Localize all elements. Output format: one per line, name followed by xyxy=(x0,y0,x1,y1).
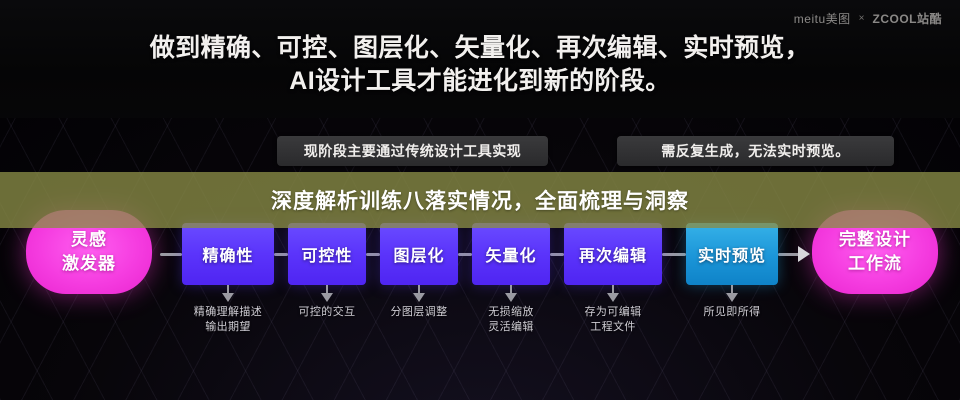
flow-node-start-line1: 灵感 xyxy=(71,228,107,252)
connector-6-to-end xyxy=(778,253,800,256)
flow-step-2: 可控性 xyxy=(288,223,366,285)
flow-sub-4-line2: 灵活编辑 xyxy=(461,320,561,335)
flow-sub-2-line1: 可控的交互 xyxy=(277,305,377,320)
flow-step-6-label: 实时预览 xyxy=(698,242,766,266)
flow-sub-4: 无损缩放 灵活编辑 xyxy=(461,305,561,335)
flow-step-5-label: 再次编辑 xyxy=(579,242,647,266)
down-arrow-6-icon xyxy=(726,293,738,302)
flow-step-5: 再次编辑 xyxy=(564,223,662,285)
connector-3-to-4 xyxy=(458,253,472,256)
brand-lockup: meitu美图 × ZCOOL站酷 xyxy=(794,10,942,27)
connector-1-to-2 xyxy=(274,253,288,256)
flow-sub-6: 所见即所得 xyxy=(682,305,782,320)
down-arrow-4-icon xyxy=(505,293,517,302)
flow-node-end-line1: 完整设计 xyxy=(839,228,911,252)
flow-sub-3: 分图层调整 xyxy=(369,305,469,320)
connector-2-to-3 xyxy=(366,253,380,256)
flow-sub-1-line2: 输出期望 xyxy=(178,320,278,335)
slide-canvas: meitu美图 × ZCOOL站酷 做到精确、可控、图层化、矢量化、再次编辑、实… xyxy=(0,0,960,400)
headline-line-1: 做到精确、可控、图层化、矢量化、再次编辑、实时预览， xyxy=(150,34,810,62)
workflow-diagram: 灵感 激发器 完整设计 工作流 精确性 可控性 图层化 矢量化 再次编辑 xyxy=(0,205,960,400)
flow-sub-5-line1: 存为可编辑 xyxy=(563,305,663,320)
flow-step-1-label: 精确性 xyxy=(202,242,253,266)
flow-sub-2: 可控的交互 xyxy=(277,305,377,320)
arrow-head-icon xyxy=(798,246,810,262)
flow-sub-3-line1: 分图层调整 xyxy=(369,305,469,320)
caption-chip-right: 需反复生成，无法实时预览。 xyxy=(617,136,894,166)
flow-sub-6-line1: 所见即所得 xyxy=(682,305,782,320)
flow-sub-1: 精确理解描述 输出期望 xyxy=(178,305,278,335)
down-arrow-3-icon xyxy=(413,293,425,302)
flow-sub-5-line2: 工程文件 xyxy=(563,320,663,335)
flow-step-4-label: 矢量化 xyxy=(485,242,536,266)
connector-5-to-6 xyxy=(662,253,686,256)
flow-sub-1-line1: 精确理解描述 xyxy=(178,305,278,320)
headline: 做到精确、可控、图层化、矢量化、再次编辑、实时预览， AI设计工具才能进化到新的… xyxy=(0,32,960,98)
meitu-logo: meitu美图 xyxy=(794,10,851,27)
flow-step-4: 矢量化 xyxy=(472,223,550,285)
zcool-logo: ZCOOL站酷 xyxy=(873,10,943,27)
down-arrow-1-icon xyxy=(222,293,234,302)
flow-step-1: 精确性 xyxy=(182,223,274,285)
banner-title: 深度解析训练八落实情况，全面梳理与洞察 xyxy=(271,185,689,215)
down-arrow-2-icon xyxy=(321,293,333,302)
headline-line-2: AI设计工具才能进化到新的阶段。 xyxy=(0,65,960,98)
flow-sub-5: 存为可编辑 工程文件 xyxy=(563,305,663,335)
flow-step-2-label: 可控性 xyxy=(301,242,352,266)
connector-start-to-1 xyxy=(160,253,182,256)
flow-step-3-label: 图层化 xyxy=(393,242,444,266)
overlay-banner: 深度解析训练八落实情况，全面梳理与洞察 xyxy=(0,172,960,228)
flow-step-3: 图层化 xyxy=(380,223,458,285)
caption-chip-left: 现阶段主要通过传统设计工具实现 xyxy=(277,136,548,166)
connector-4-to-5 xyxy=(550,253,564,256)
flow-step-6: 实时预览 xyxy=(686,223,778,285)
brand-separator-icon: × xyxy=(859,13,865,24)
flow-node-start-line2: 激发器 xyxy=(62,252,116,276)
flow-node-end-line2: 工作流 xyxy=(848,252,902,276)
flow-sub-4-line1: 无损缩放 xyxy=(461,305,561,320)
down-arrow-5-icon xyxy=(607,293,619,302)
